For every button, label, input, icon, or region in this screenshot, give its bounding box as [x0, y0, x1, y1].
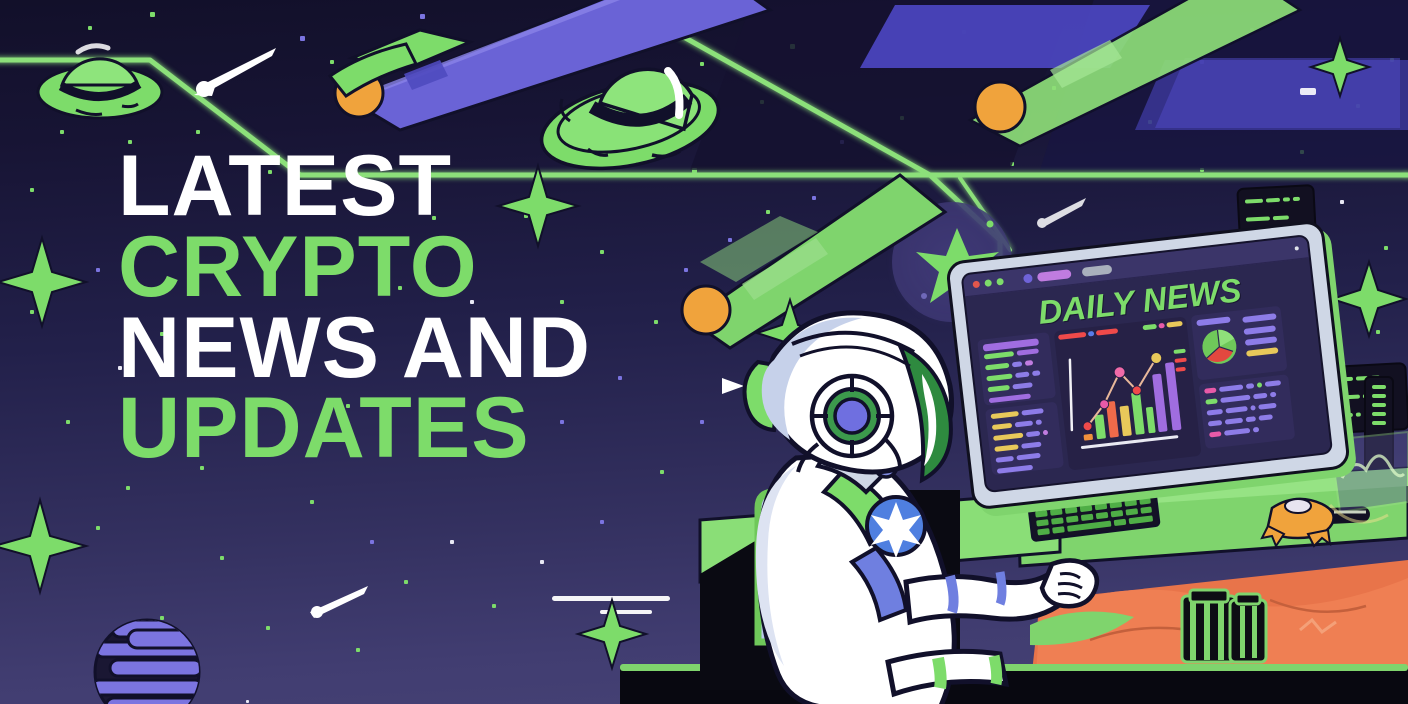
headline-line-3: NEWS AND: [118, 308, 591, 389]
dashboard-right-column: [1191, 306, 1296, 449]
canisters: [1182, 590, 1266, 662]
browser-tab-active[interactable]: [1023, 274, 1033, 284]
headline-line-4: UPDATES: [118, 388, 591, 469]
scene-canvas: LATEST CRYPTO NEWS AND UPDATES: [0, 0, 1408, 704]
page-title: LATEST CRYPTO NEWS AND UPDATES: [118, 146, 591, 469]
pie-chart: [1197, 325, 1241, 369]
table-card[interactable]: [1199, 374, 1296, 449]
browser-dot-max[interactable]: [996, 278, 1004, 286]
monitor-screen[interactable]: DAILY NEWS: [960, 234, 1333, 493]
dashboard-left-column: [977, 332, 1064, 473]
headline-line-1: LATEST: [118, 146, 591, 227]
left-card-bottom[interactable]: [985, 402, 1064, 476]
browser-menu-dot[interactable]: [1294, 246, 1298, 250]
chart-panel[interactable]: [1054, 316, 1202, 470]
left-card-top[interactable]: [977, 332, 1056, 406]
browser-dot-close[interactable]: [972, 281, 980, 289]
monitor[interactable]: DAILY NEWS: [945, 219, 1351, 510]
pie-card[interactable]: [1191, 306, 1288, 381]
helmet: [745, 313, 952, 480]
chart-plot: [1059, 331, 1195, 452]
browser-dot-min[interactable]: [984, 279, 992, 287]
browser-url-pill[interactable]: [1037, 269, 1072, 282]
headline-line-2: CRYPTO: [118, 227, 591, 308]
browser-secondary-pill[interactable]: [1082, 264, 1113, 276]
